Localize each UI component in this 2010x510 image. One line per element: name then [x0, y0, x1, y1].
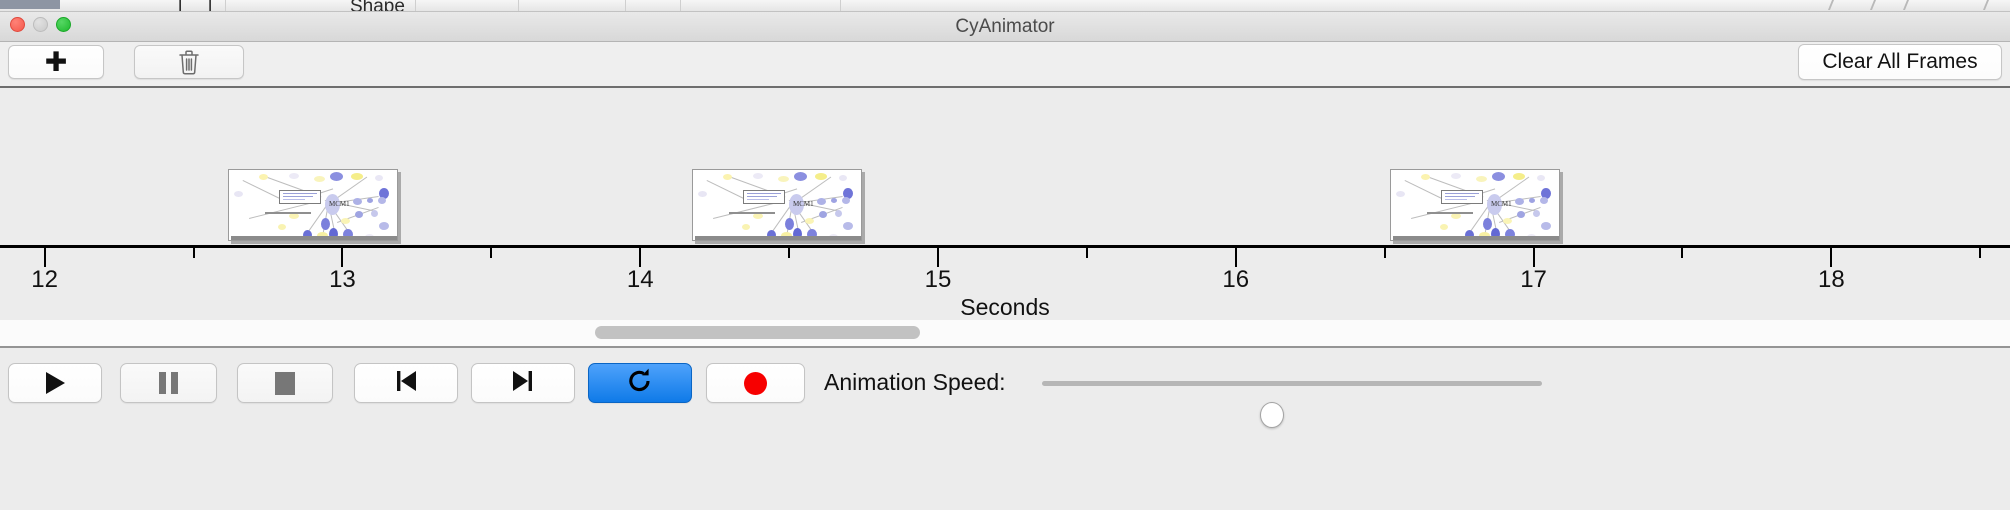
network-node-label: MCM1	[1491, 200, 1512, 208]
axis-title: Seconds	[0, 294, 2010, 320]
skip-to-end-icon	[510, 369, 536, 398]
last-frame-button[interactable]	[471, 363, 575, 403]
first-frame-button[interactable]	[354, 363, 458, 403]
loop-button[interactable]	[588, 363, 692, 403]
timeline-scrollbar[interactable]	[0, 320, 2010, 348]
network-node-label: MCM1	[793, 200, 814, 208]
axis-minor-tick	[1086, 248, 1088, 258]
network-tooltip	[1441, 190, 1483, 204]
play-icon	[46, 372, 65, 394]
stop-icon	[275, 372, 295, 395]
axis-minor-tick	[1979, 248, 1981, 258]
timeline-frame-thumbnail[interactable]: MCM1	[228, 169, 398, 241]
axis-tick-label: 18	[1818, 266, 1845, 294]
animation-speed-label: Animation Speed:	[824, 362, 1006, 402]
scrollbar-thumb[interactable]	[595, 326, 920, 339]
minimize-icon[interactable]	[33, 17, 48, 32]
network-preview: MCM1	[229, 170, 397, 240]
thumbnail-shadow	[1393, 236, 1560, 240]
timeline-frame-thumbnail[interactable]: MCM1	[692, 169, 862, 241]
play-button[interactable]	[8, 363, 102, 403]
axis-major-tick	[1533, 248, 1535, 267]
page-title: CyAnimator	[0, 12, 2010, 42]
loop-icon	[626, 367, 654, 400]
axis-tick-label: 14	[627, 266, 654, 294]
toolbar: ✚ Clear All Frames	[0, 42, 2010, 86]
axis-major-tick	[44, 248, 46, 267]
close-icon[interactable]	[10, 17, 25, 32]
axis-tick-label: 15	[925, 266, 952, 294]
pause-button[interactable]	[120, 363, 217, 403]
axis-major-tick	[639, 248, 641, 267]
thumbnail-shadow	[231, 236, 398, 240]
network-preview: MCM1	[693, 170, 861, 240]
network-preview: MCM1	[1391, 170, 1559, 240]
axis-minor-tick	[490, 248, 492, 258]
add-frame-button[interactable]: ✚	[8, 45, 104, 79]
axis-tick-label: 16	[1222, 266, 1249, 294]
timeline-axis	[0, 245, 2010, 248]
axis-major-tick	[1235, 248, 1237, 267]
stop-button[interactable]	[237, 363, 333, 403]
zoom-icon[interactable]	[56, 17, 71, 32]
thumbnail-shadow	[695, 236, 862, 240]
cyanimator-window: [ ] Shape CyAnimator ✚ Clear All Frames	[0, 0, 2010, 510]
axis-major-tick	[1830, 248, 1832, 267]
axis-tick-label: 12	[31, 266, 58, 294]
timeline-frame-thumbnail[interactable]: MCM1	[1390, 169, 1560, 241]
network-tooltip	[743, 190, 785, 204]
record-icon	[744, 372, 767, 395]
trash-icon	[178, 49, 200, 75]
playback-controls: Animation Speed:	[0, 350, 2010, 510]
axis-minor-tick	[788, 248, 790, 258]
axis-tick-label: 13	[329, 266, 356, 294]
axis-major-tick	[937, 248, 939, 267]
timeline-canvas[interactable]: MCM1	[0, 88, 2010, 320]
axis-major-tick	[341, 248, 343, 267]
title-bar: CyAnimator	[0, 12, 2010, 42]
axis-minor-tick	[193, 248, 195, 258]
skip-to-start-icon	[393, 369, 419, 398]
plus-icon: ✚	[45, 49, 68, 76]
window-controls	[10, 17, 71, 32]
record-button[interactable]	[706, 363, 805, 403]
network-tooltip	[279, 190, 321, 204]
delete-frame-button[interactable]	[134, 45, 244, 79]
pause-icon	[159, 372, 178, 394]
clear-all-frames-button[interactable]: Clear All Frames	[1798, 44, 2002, 80]
network-node-label: MCM1	[329, 200, 350, 208]
axis-tick-label: 17	[1520, 266, 1547, 294]
animation-speed-slider[interactable]	[1042, 381, 1542, 386]
axis-minor-tick	[1681, 248, 1683, 258]
animation-speed-slider-thumb[interactable]	[1260, 402, 1284, 428]
background-window-dark-block	[0, 0, 60, 9]
axis-minor-tick	[1384, 248, 1386, 258]
